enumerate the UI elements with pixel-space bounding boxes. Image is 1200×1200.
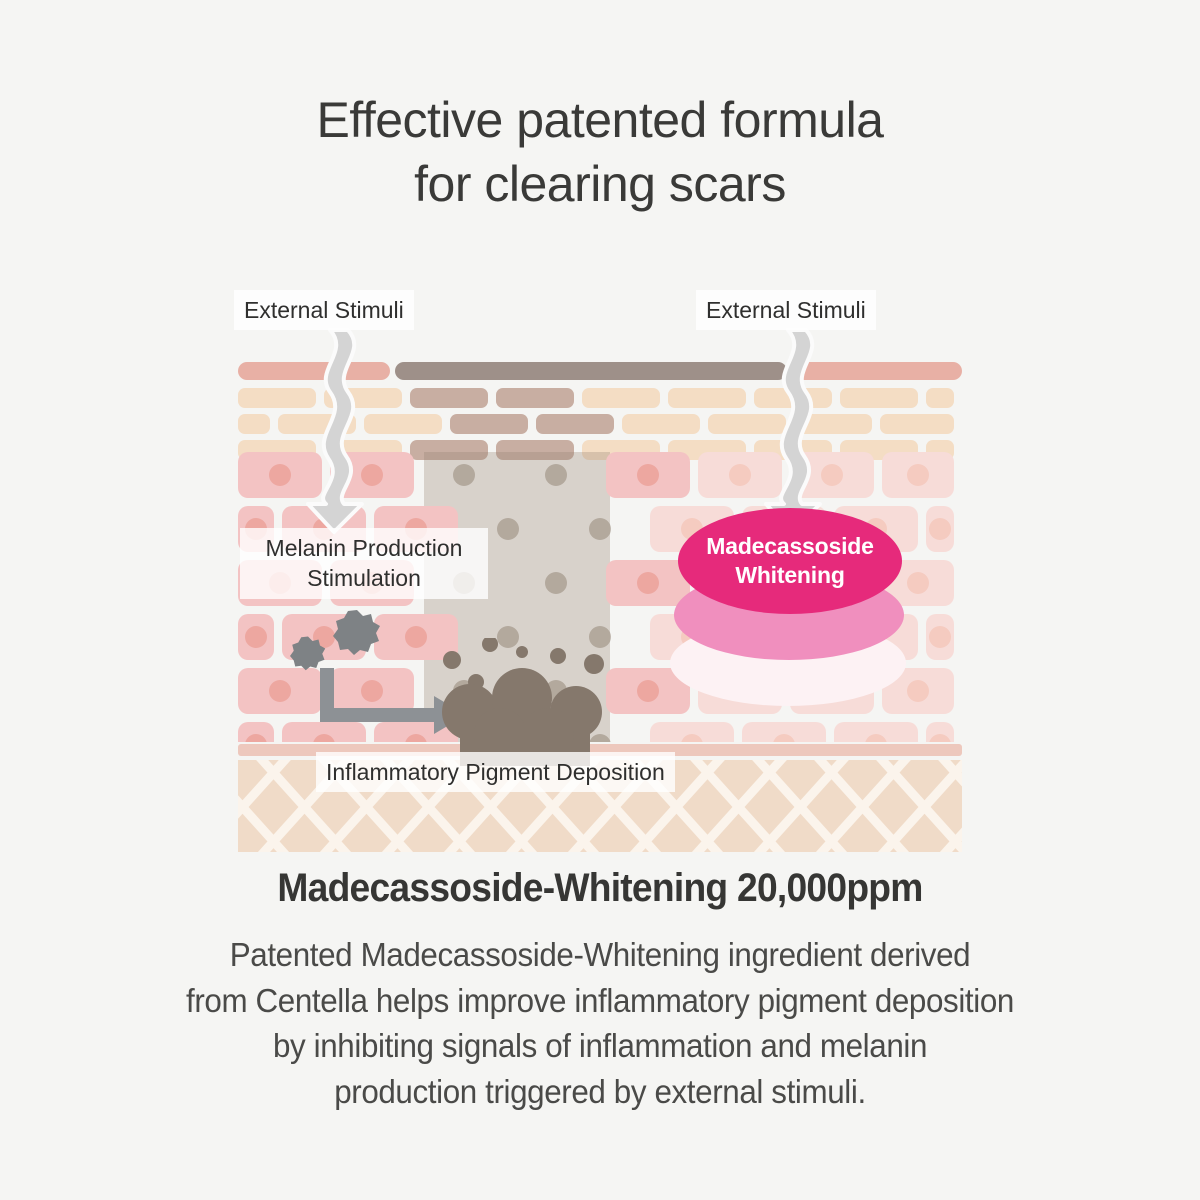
description-line-2: from Centella helps improve inflammatory… <box>30 978 1170 1024</box>
description-line-4: production triggered by external stimuli… <box>30 1069 1170 1115</box>
epidermis-brick <box>582 388 660 408</box>
epidermis-brick <box>668 388 746 408</box>
dermis-cell-nucleus <box>589 518 611 540</box>
epidermis-brick <box>840 388 918 408</box>
description-line-3: by inhibiting signals of inflammation an… <box>30 1023 1170 1069</box>
epidermis-brick <box>622 414 700 434</box>
stimulus-arrow-right-icon <box>758 326 830 536</box>
melanin-label-line-1: Melanin Production <box>266 535 463 561</box>
whitening-pill-top-layer: Madecassoside Whitening <box>678 508 902 614</box>
epidermis-brick <box>410 388 488 408</box>
infographic-page: Effective patented formula for clearing … <box>0 0 1200 1200</box>
dermis-cell-nucleus <box>497 518 519 540</box>
dermis-cell-nucleus <box>545 464 567 486</box>
label-melanin-production-stimulation: Melanin Production Stimulation <box>240 528 488 599</box>
whitening-pill-label: Madecassoside Whitening <box>678 532 902 591</box>
dermis-cell-nucleus <box>453 464 475 486</box>
dermis-cell-nucleus <box>907 680 929 702</box>
dermis-cell-nucleus <box>405 626 427 648</box>
dermis-cell-nucleus <box>245 626 267 648</box>
product-description: Patented Madecassoside-Whitening ingredi… <box>30 932 1170 1114</box>
dermis-cell-nucleus <box>637 572 659 594</box>
dermis-cell-nucleus <box>929 626 951 648</box>
label-external-stimuli-left: External Stimuli <box>234 290 414 330</box>
page-title-line-2: for clearing scars <box>0 152 1200 216</box>
page-title-line-1: Effective patented formula <box>0 88 1200 152</box>
whitening-pill-line-1: Madecassoside <box>706 533 873 559</box>
epidermis-brick <box>536 414 614 434</box>
dermis-cell-nucleus <box>907 572 929 594</box>
dermis-cell-nucleus <box>929 518 951 540</box>
pigment-blob-cluster-icon <box>434 638 634 766</box>
label-inflammatory-pigment-deposition: Inflammatory Pigment Deposition <box>316 752 675 792</box>
dermis-cell-nucleus <box>637 464 659 486</box>
epidermis-brick <box>926 388 954 408</box>
dermis-cell-nucleus <box>269 680 291 702</box>
dermis-cell-nucleus <box>907 464 929 486</box>
dermis-cell-nucleus <box>545 572 567 594</box>
epidermis-brick <box>238 414 270 434</box>
epidermis-brick <box>880 414 954 434</box>
whitening-pill-line-2: Whitening <box>735 562 844 588</box>
dermis-cell-nucleus <box>269 464 291 486</box>
melanin-label-line-2: Stimulation <box>307 565 421 591</box>
corneum-scar-segment <box>395 362 787 380</box>
product-subheadline: Madecassoside-Whitening 20,000ppm <box>42 866 1158 911</box>
skin-cross-section-diagram: Madecassoside Whitening External Stimuli… <box>238 240 962 840</box>
melanin-starburst-icon <box>290 635 326 671</box>
label-external-stimuli-right: External Stimuli <box>696 290 876 330</box>
description-line-1: Patented Madecassoside-Whitening ingredi… <box>30 932 1170 978</box>
epidermis-brick <box>496 388 574 408</box>
melanin-starburst-icon <box>333 608 381 656</box>
epidermis-brick <box>364 414 442 434</box>
epidermis-brick <box>450 414 528 434</box>
dermis-cell-nucleus <box>637 680 659 702</box>
dermis-cell-nucleus <box>729 464 751 486</box>
page-title: Effective patented formula for clearing … <box>0 88 1200 216</box>
stimulus-arrow-left-icon <box>300 326 372 536</box>
